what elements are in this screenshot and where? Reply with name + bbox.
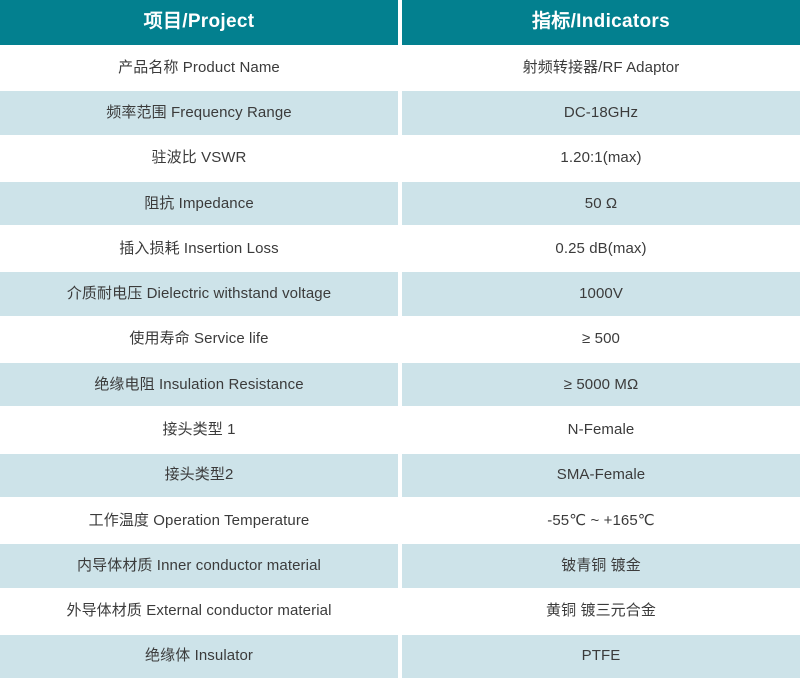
table-row: 外导体材质 External conductor material 黄铜 镀三元… bbox=[0, 589, 800, 634]
row-value-dielectric-withstand-voltage: 1000V bbox=[402, 272, 800, 315]
table-row: 绝缘电阻 Insulation Resistance ≥ 5000 MΩ bbox=[0, 362, 800, 407]
table-row: 工作温度 Operation Temperature -55℃ ~ +165℃ bbox=[0, 498, 800, 543]
row-label-inner-conductor-material: 内导体材质 Inner conductor material bbox=[0, 544, 398, 587]
row-value-insertion-loss: 0.25 dB(max) bbox=[402, 227, 800, 270]
table-row: 介质耐电压 Dielectric withstand voltage 1000V bbox=[0, 271, 800, 316]
row-label-external-conductor-material: 外导体材质 External conductor material bbox=[0, 590, 398, 633]
row-label-frequency-range: 频率范围 Frequency Range bbox=[0, 91, 398, 134]
row-value-inner-conductor-material: 铍青铜 镀金 bbox=[402, 544, 800, 587]
table-row: 接头类型 1 N-Female bbox=[0, 407, 800, 452]
row-value-product-name: 射频转接器/RF Adaptor bbox=[402, 46, 800, 89]
row-value-impedance: 50 Ω bbox=[402, 182, 800, 225]
row-label-insulation-resistance: 绝缘电阻 Insulation Resistance bbox=[0, 363, 398, 406]
column-header-project: 项目/Project bbox=[0, 0, 398, 45]
row-value-operation-temperature: -55℃ ~ +165℃ bbox=[402, 499, 800, 542]
specification-table: 项目/Project 指标/Indicators 产品名称 Product Na… bbox=[0, 0, 800, 679]
table-row: 使用寿命 Service life ≥ 500 bbox=[0, 317, 800, 362]
table-row: 内导体材质 Inner conductor material 铍青铜 镀金 bbox=[0, 543, 800, 588]
column-header-indicators: 指标/Indicators bbox=[402, 0, 800, 45]
table-row: 绝缘体 Insulator PTFE bbox=[0, 634, 800, 679]
row-value-connector-type-1: N-Female bbox=[402, 408, 800, 451]
row-label-dielectric-withstand-voltage: 介质耐电压 Dielectric withstand voltage bbox=[0, 272, 398, 315]
row-value-service-life: ≥ 500 bbox=[402, 318, 800, 361]
row-label-connector-type-1: 接头类型 1 bbox=[0, 408, 398, 451]
row-label-impedance: 阻抗 Impedance bbox=[0, 182, 398, 225]
row-label-vswr: 驻波比 VSWR bbox=[0, 137, 398, 180]
row-label-service-life: 使用寿命 Service life bbox=[0, 318, 398, 361]
row-value-frequency-range: DC-18GHz bbox=[402, 91, 800, 134]
table-row: 频率范围 Frequency Range DC-18GHz bbox=[0, 90, 800, 135]
row-value-connector-type-2: SMA-Female bbox=[402, 454, 800, 497]
table-row: 产品名称 Product Name 射频转接器/RF Adaptor bbox=[0, 45, 800, 90]
table-row: 驻波比 VSWR 1.20:1(max) bbox=[0, 136, 800, 181]
row-value-external-conductor-material: 黄铜 镀三元合金 bbox=[402, 590, 800, 633]
row-label-connector-type-2: 接头类型2 bbox=[0, 454, 398, 497]
table-row: 接头类型2 SMA-Female bbox=[0, 453, 800, 498]
row-label-product-name: 产品名称 Product Name bbox=[0, 46, 398, 89]
row-value-insulation-resistance: ≥ 5000 MΩ bbox=[402, 363, 800, 406]
row-value-insulator: PTFE bbox=[402, 635, 800, 678]
table-row: 阻抗 Impedance 50 Ω bbox=[0, 181, 800, 226]
row-label-insertion-loss: 插入损耗 Insertion Loss bbox=[0, 227, 398, 270]
row-label-operation-temperature: 工作温度 Operation Temperature bbox=[0, 499, 398, 542]
table-header-row: 项目/Project 指标/Indicators bbox=[0, 0, 800, 45]
row-value-vswr: 1.20:1(max) bbox=[402, 137, 800, 180]
table-row: 插入损耗 Insertion Loss 0.25 dB(max) bbox=[0, 226, 800, 271]
row-label-insulator: 绝缘体 Insulator bbox=[0, 635, 398, 678]
